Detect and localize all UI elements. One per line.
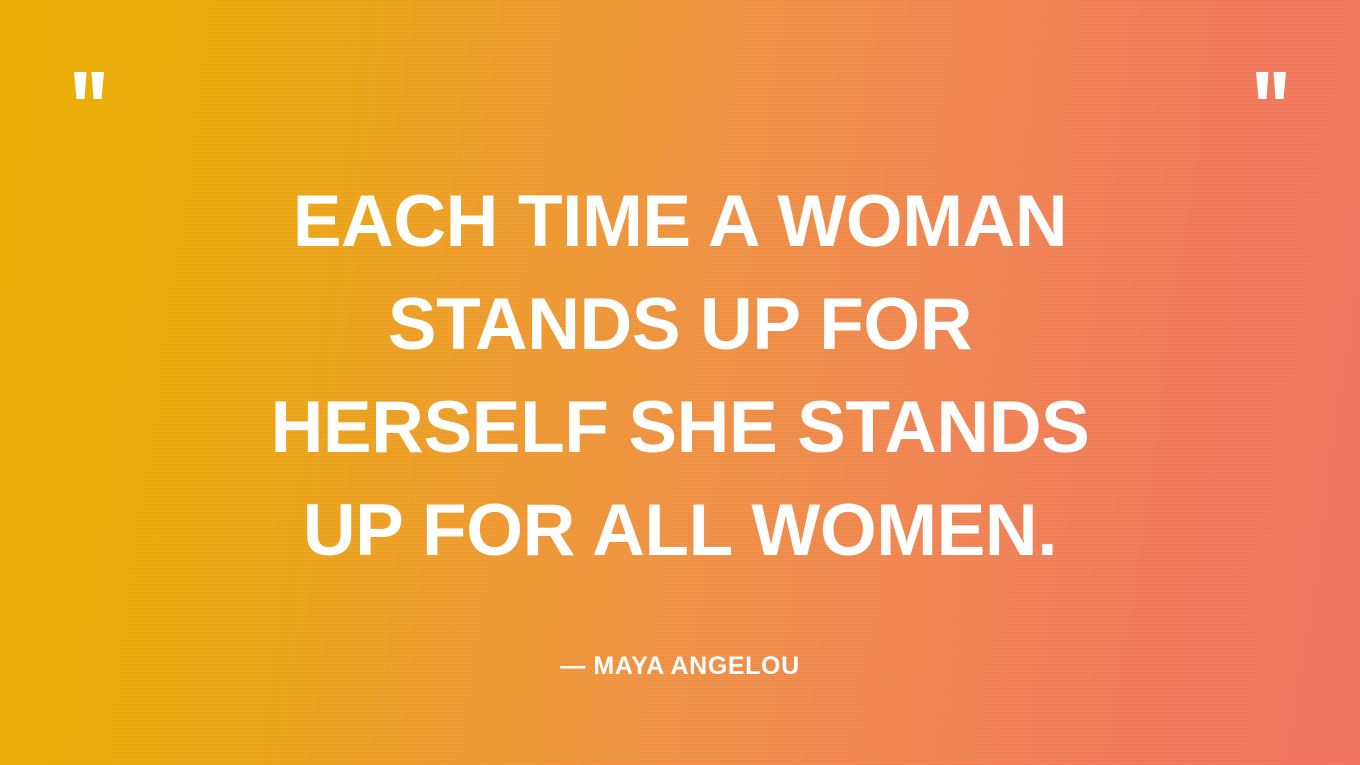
quote-mark-icon (74, 72, 104, 99)
quote-card: EACH TIME A WOMAN STANDS UP FOR HERSELF … (0, 0, 1360, 765)
quote-attribution: — MAYA ANGELOU (0, 652, 1360, 681)
quote-line: HERSELF SHE STANDS (80, 376, 1280, 479)
quote-text: EACH TIME A WOMAN STANDS UP FOR HERSELF … (0, 170, 1360, 582)
quote-line: EACH TIME A WOMAN (80, 170, 1280, 273)
quote-line: STANDS UP FOR (80, 273, 1280, 376)
quote-line: UP FOR ALL WOMEN. (80, 479, 1280, 582)
quote-mark-icon (1256, 72, 1286, 99)
